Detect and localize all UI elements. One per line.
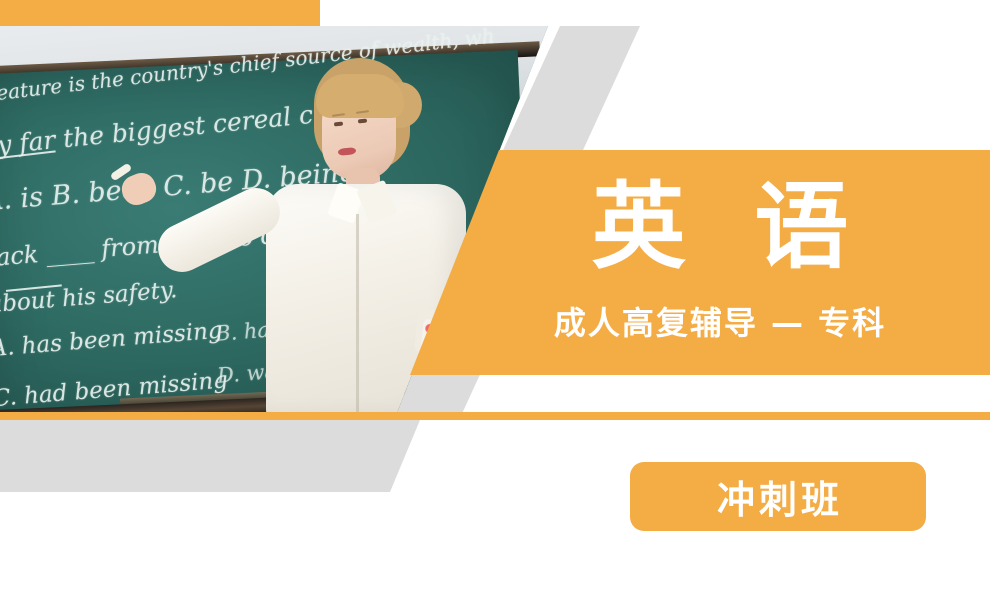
chalk-blank-underline-2 (6, 284, 62, 291)
course-promo-banner: feature is the country's chief source of… (0, 0, 990, 609)
gray-diagonal-slab-lower (0, 420, 420, 492)
top-accent-bar (0, 0, 320, 26)
chalk-line-6: A. has been missing (0, 318, 223, 363)
headline-block: 英 语 成人高复辅导 — 专科 (500, 150, 940, 344)
chalk-line-5: about his safety. (0, 277, 178, 318)
orange-divider-rule (0, 412, 990, 420)
course-title: 英 语 (500, 150, 940, 276)
sprint-class-button[interactable]: 冲刺班 (630, 462, 926, 531)
chalk-blank-underline-1 (0, 150, 56, 160)
teacher-shirt-placket (356, 214, 359, 414)
course-subtitle: 成人高复辅导 — 专科 (500, 276, 940, 344)
